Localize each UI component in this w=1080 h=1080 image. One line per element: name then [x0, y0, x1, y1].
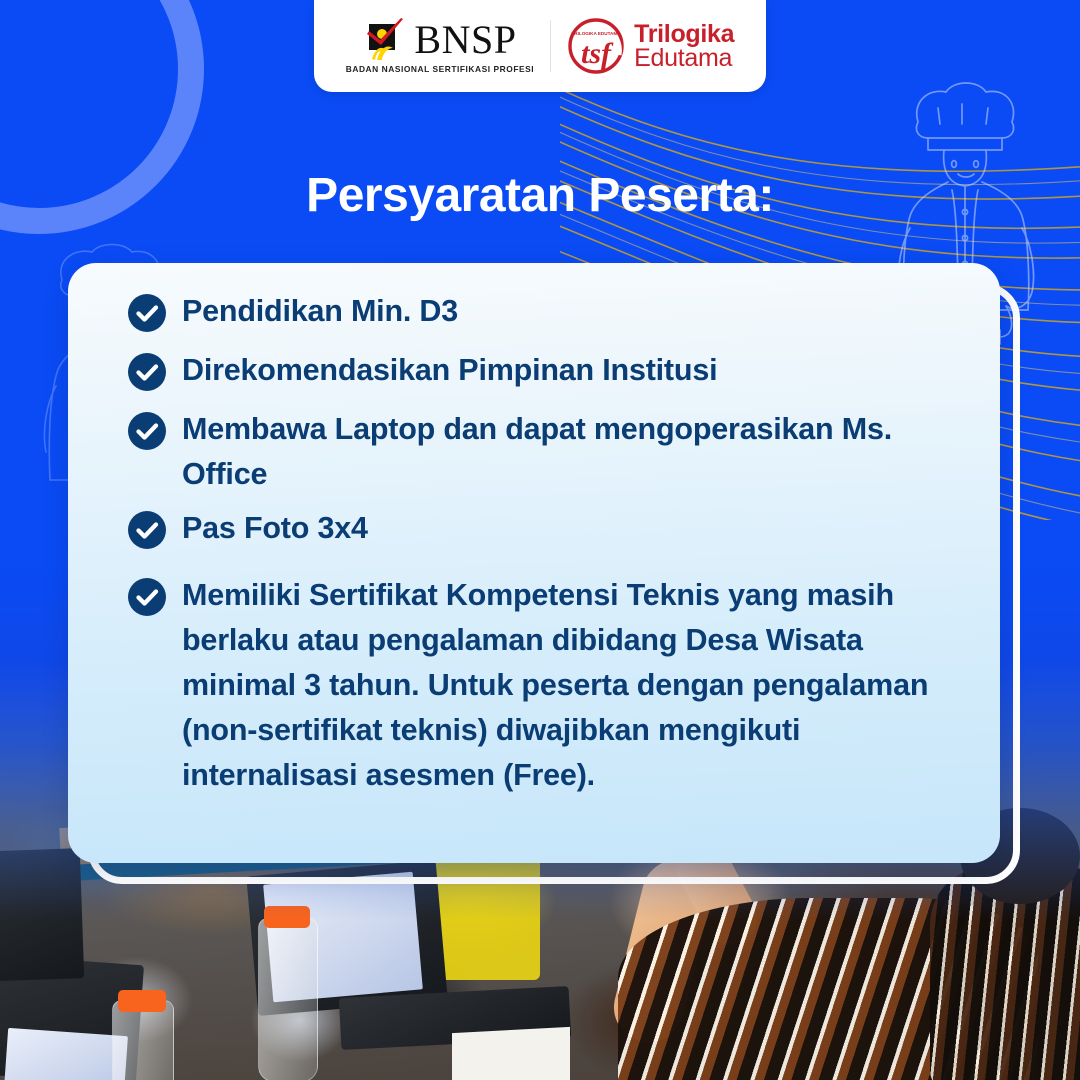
bnsp-tagline: BADAN NASIONAL SERTIFIKASI PROFESI	[346, 64, 534, 74]
list-item: Pas Foto 3x4	[128, 506, 956, 551]
requirement-text: Memiliki Sertifikat Kompetensi Teknis ya…	[182, 573, 942, 799]
page-title: Persyaratan Peserta:	[0, 168, 1080, 223]
requirements-card: Pendidikan Min. D3 Direkomendasikan Pimp…	[68, 263, 1000, 863]
trilogika-monogram: tsf	[581, 37, 614, 70]
list-item: Direkomendasikan Pimpinan Institusi	[128, 348, 956, 393]
check-circle-icon	[128, 294, 166, 332]
bnsp-logo: BNSP BADAN NASIONAL SERTIFIKASI PROFESI	[346, 18, 534, 74]
logo-divider	[550, 20, 551, 72]
trilogika-logo: TRILOGIKA EDUTAMA tsf Trilogika Edutama	[567, 17, 734, 75]
poster-canvas: BNSP BADAN NASIONAL SERTIFIKASI PROFESI …	[0, 0, 1080, 1080]
check-circle-icon	[128, 353, 166, 391]
requirement-text: Membawa Laptop dan dapat mengoperasikan …	[182, 407, 956, 497]
trilogika-name-line2: Edutama	[634, 46, 734, 70]
brand-logo-bar: BNSP BADAN NASIONAL SERTIFIKASI PROFESI …	[314, 0, 766, 92]
check-circle-icon	[128, 511, 166, 549]
requirements-list: Pendidikan Min. D3 Direkomendasikan Pimp…	[68, 263, 1000, 798]
requirement-text: Pendidikan Min. D3	[182, 289, 458, 334]
bnsp-checkmark-logo	[363, 18, 409, 62]
bnsp-wordmark: BNSP	[414, 21, 516, 59]
trilogika-circle-logo: TRILOGIKA EDUTAMA tsf	[567, 17, 625, 75]
list-item: Memiliki Sertifikat Kompetensi Teknis ya…	[128, 573, 956, 799]
trilogika-name-line1: Trilogika	[634, 22, 734, 46]
requirement-text: Pas Foto 3x4	[182, 506, 368, 551]
requirement-text: Direkomendasikan Pimpinan Institusi	[182, 348, 717, 393]
list-item: Pendidikan Min. D3	[128, 289, 956, 334]
check-circle-icon	[128, 412, 166, 450]
list-item: Membawa Laptop dan dapat mengoperasikan …	[128, 407, 956, 497]
trilogika-ring-text: TRILOGIKA EDUTAMA	[572, 31, 622, 36]
check-circle-icon	[128, 578, 166, 616]
